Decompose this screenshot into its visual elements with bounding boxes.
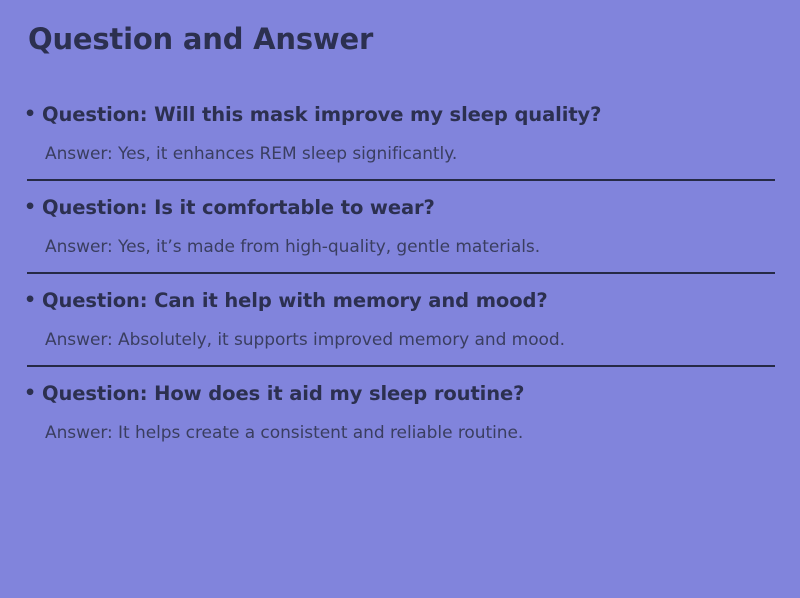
qa-question-row: • Question: Will this mask improve my sl… bbox=[0, 88, 800, 128]
qa-answer-text: Answer: It helps create a consistent and… bbox=[0, 407, 800, 458]
qa-question-row: • Question: How does it aid my sleep rou… bbox=[0, 367, 800, 407]
qa-question-row: • Question: Is it comfortable to wear? bbox=[0, 181, 800, 221]
list-item: • Question: How does it aid my sleep rou… bbox=[0, 367, 800, 458]
qa-question-text: Question: How does it aid my sleep routi… bbox=[42, 380, 800, 407]
qa-answer-text: Answer: Yes, it enhances REM sleep signi… bbox=[0, 128, 800, 179]
qa-question-text: Question: Can it help with memory and mo… bbox=[42, 287, 800, 314]
list-item: • Question: Can it help with memory and … bbox=[0, 274, 800, 367]
qa-question-row: • Question: Can it help with memory and … bbox=[0, 274, 800, 314]
qa-question-text: Question: Will this mask improve my slee… bbox=[42, 101, 800, 128]
page-title: Question and Answer bbox=[28, 24, 373, 56]
bullet-icon: • bbox=[24, 194, 42, 221]
qa-list: • Question: Will this mask improve my sl… bbox=[0, 88, 800, 458]
qa-answer-text: Answer: Yes, it’s made from high-quality… bbox=[0, 221, 800, 272]
bullet-icon: • bbox=[24, 287, 42, 314]
qa-answer-text: Answer: Absolutely, it supports improved… bbox=[0, 314, 800, 365]
bullet-icon: • bbox=[24, 380, 42, 407]
list-item: • Question: Is it comfortable to wear? A… bbox=[0, 181, 800, 274]
list-item: • Question: Will this mask improve my sl… bbox=[0, 88, 800, 181]
slide-canvas: Question and Answer • Question: Will thi… bbox=[0, 0, 800, 598]
bullet-icon: • bbox=[24, 101, 42, 128]
qa-question-text: Question: Is it comfortable to wear? bbox=[42, 194, 800, 221]
